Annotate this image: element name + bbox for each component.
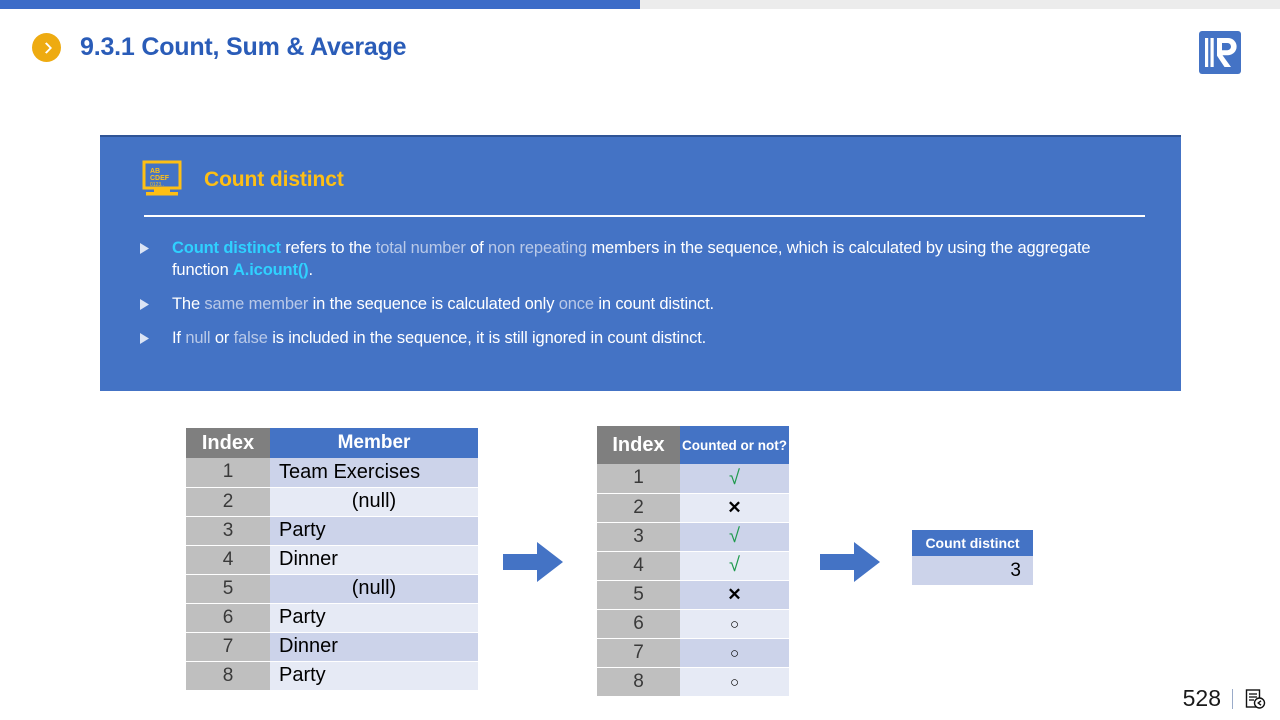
circle-icon: ○	[730, 616, 739, 633]
bullet-3-seg-4: is included in the sequence, it is still…	[268, 329, 706, 347]
counted-table-body: 1√2✕3√4√5✕6○7○8○	[597, 464, 789, 696]
cell-index: 6	[597, 609, 680, 638]
cell-index: 1	[597, 464, 680, 493]
column-header-member: Member	[270, 428, 478, 458]
table-row: 4Dinner	[186, 545, 478, 574]
cell-index: 8	[597, 667, 680, 696]
members-table: Index Member 1Team Exercises2(null)3Part…	[186, 428, 478, 691]
bullet-1-seg-6: A.icount()	[233, 261, 308, 279]
table-row: 5✕	[597, 580, 789, 609]
bullet-1-seg-2: total number	[376, 239, 466, 257]
cell-member: Party	[270, 661, 478, 690]
arrow-right-block-icon	[820, 542, 880, 587]
cell-mark-circle: ○	[680, 609, 789, 638]
bullet-item-3: If null or false is included in the sequ…	[138, 327, 1143, 349]
arrow-right-block-icon	[503, 542, 563, 587]
page-title: 9.3.1 Count, Sum & Average	[80, 33, 406, 62]
members-table-body: 1Team Exercises2(null)3Party4Dinner5(nul…	[186, 458, 478, 690]
cell-index: 7	[597, 638, 680, 667]
cell-index: 2	[597, 493, 680, 522]
bullet-3-seg-3: false	[234, 329, 268, 347]
cell-index: 1	[186, 458, 270, 487]
bullet-text-2: The same member in the sequence is calcu…	[172, 293, 714, 315]
table-row: 1Team Exercises	[186, 458, 478, 487]
cell-mark-cross: ✕	[680, 493, 789, 522]
circle-icon: ○	[730, 674, 739, 691]
bullet-3-seg-0: If	[172, 329, 185, 347]
cell-member: Dinner	[270, 632, 478, 661]
page-header: 9.3.1 Count, Sum & Average	[32, 33, 406, 62]
svg-text:0123..: 0123..	[150, 182, 164, 188]
bullet-item-2: The same member in the sequence is calcu…	[138, 293, 1143, 315]
counted-table: Index Counted or not? 1√2✕3√4√5✕6○7○8○	[597, 426, 789, 697]
cell-member: Team Exercises	[270, 458, 478, 487]
panel-header: AB CDEF 0123.. Count distinct	[100, 137, 1181, 201]
circle-icon: ○	[730, 645, 739, 662]
cell-member: Party	[270, 516, 478, 545]
table-row: 7○	[597, 638, 789, 667]
bullet-2-seg-4: in count distinct.	[594, 295, 714, 313]
slide-progress-fill	[0, 0, 640, 9]
panel-title: Count distinct	[204, 168, 344, 192]
cell-mark-circle: ○	[680, 638, 789, 667]
check-icon: √	[729, 525, 740, 547]
cell-index: 8	[186, 661, 270, 690]
cell-member-null: (null)	[270, 574, 478, 603]
bullet-3-seg-1: null	[185, 329, 210, 347]
table-row: 7Dinner	[186, 632, 478, 661]
table-header-row: Index Counted or not?	[597, 426, 789, 464]
result-value: 3	[912, 556, 1033, 585]
bullet-1-seg-3: of	[466, 239, 488, 257]
cell-mark-circle: ○	[680, 667, 789, 696]
document-back-icon[interactable]	[1244, 688, 1266, 710]
cell-index: 3	[186, 516, 270, 545]
cell-mark-cross: ✕	[680, 580, 789, 609]
bullet-text-1: Count distinct refers to the total numbe…	[172, 237, 1143, 281]
check-icon: √	[729, 467, 740, 489]
cell-index: 4	[186, 545, 270, 574]
chevron-right-circle-icon	[32, 33, 61, 62]
table-row: 5(null)	[186, 574, 478, 603]
bullet-2-seg-1: same member	[204, 295, 308, 313]
table-row: 4√	[597, 551, 789, 580]
bullet-2-seg-0: The	[172, 295, 204, 313]
column-header-counted: Counted or not?	[680, 426, 789, 464]
cross-icon: ✕	[727, 585, 741, 604]
monitor-screen-icon: AB CDEF 0123..	[138, 159, 186, 201]
result-label: Count distinct	[912, 530, 1033, 556]
table-row: 8○	[597, 667, 789, 696]
content-panel: AB CDEF 0123.. Count distinct Count dist…	[100, 135, 1181, 391]
cell-index: 5	[597, 580, 680, 609]
table-row: 2✕	[597, 493, 789, 522]
triangle-right-icon	[138, 327, 172, 345]
cell-mark-check: √	[680, 551, 789, 580]
cell-mark-check: √	[680, 464, 789, 493]
bullet-2-seg-3: once	[559, 295, 594, 313]
bullet-1-seg-4: non repeating	[488, 239, 587, 257]
table-row: 3Party	[186, 516, 478, 545]
column-header-index: Index	[186, 428, 270, 458]
panel-bullet-list: Count distinct refers to the total numbe…	[100, 217, 1181, 349]
svg-text:CDEF: CDEF	[150, 175, 170, 182]
cell-index: 2	[186, 487, 270, 516]
cell-member: Dinner	[270, 545, 478, 574]
cross-icon: ✕	[727, 498, 741, 517]
table-row: 1√	[597, 464, 789, 493]
table-header-row: Index Member	[186, 428, 478, 458]
cell-index: 6	[186, 603, 270, 632]
bullet-1-seg-7: .	[309, 261, 313, 279]
tables-flow-area: Index Member 1Team Exercises2(null)3Part…	[0, 426, 1280, 696]
page-footer: 528	[1183, 685, 1266, 712]
bullet-1-seg-1: refers to the	[281, 239, 376, 257]
result-box: Count distinct 3	[912, 530, 1033, 585]
bullet-item-1: Count distinct refers to the total numbe…	[138, 237, 1143, 281]
table-row: 6Party	[186, 603, 478, 632]
cell-index: 5	[186, 574, 270, 603]
slide-progress-bar[interactable]	[0, 0, 1280, 9]
bullet-3-seg-2: or	[210, 329, 233, 347]
footer-divider	[1232, 689, 1233, 709]
cell-member: Party	[270, 603, 478, 632]
page-number: 528	[1183, 685, 1221, 712]
raqsoft-r-logo	[1198, 30, 1242, 75]
table-row: 6○	[597, 609, 789, 638]
table-row: 8Party	[186, 661, 478, 690]
triangle-right-icon	[138, 237, 172, 255]
cell-member-null: (null)	[270, 487, 478, 516]
triangle-right-icon	[138, 293, 172, 311]
table-row: 3√	[597, 522, 789, 551]
bullet-text-3: If null or false is included in the sequ…	[172, 327, 706, 349]
check-icon: √	[729, 554, 740, 576]
bullet-2-seg-2: in the sequence is calculated only	[308, 295, 559, 313]
table-row: 2(null)	[186, 487, 478, 516]
bullet-1-seg-0: Count distinct	[172, 239, 281, 257]
svg-text:AB: AB	[150, 168, 160, 175]
cell-index: 4	[597, 551, 680, 580]
cell-index: 3	[597, 522, 680, 551]
column-header-index: Index	[597, 426, 680, 464]
cell-index: 7	[186, 632, 270, 661]
cell-mark-check: √	[680, 522, 789, 551]
